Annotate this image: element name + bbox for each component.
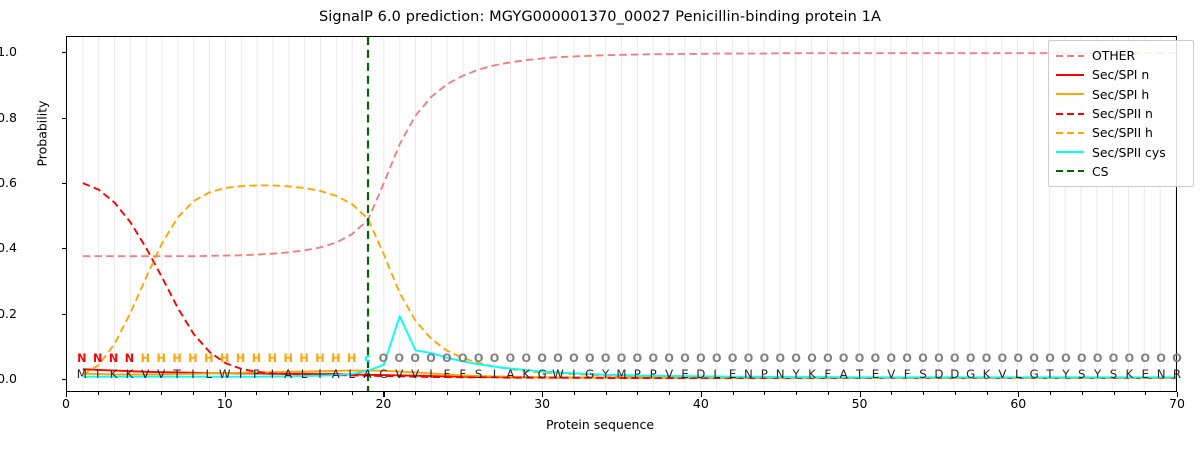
x-minor-tick: [733, 392, 734, 395]
x-tick-mark: [66, 392, 67, 397]
x-axis-label: Protein sequence: [0, 417, 1200, 432]
legend-sec-spii-h-swatch-icon: [1055, 127, 1085, 139]
x-minor-tick: [352, 392, 353, 395]
series-other: [83, 53, 1176, 256]
x-tick-label: 10: [195, 396, 255, 411]
x-tick-label: 40: [671, 396, 731, 411]
x-minor-tick: [923, 392, 924, 395]
y-tick-mark: [62, 118, 67, 119]
x-minor-tick: [796, 392, 797, 395]
y-tick-mark: [62, 379, 67, 380]
x-minor-tick: [447, 392, 448, 395]
x-minor-tick: [98, 392, 99, 395]
x-minor-tick: [1114, 392, 1115, 395]
legend-sec-spi-n[interactable]: Sec/SPI n: [1055, 65, 1187, 84]
legend-sec-spi-h-swatch-icon: [1055, 88, 1085, 100]
legend-sec-spii-cys-label: Sec/SPII cys: [1092, 145, 1166, 160]
legend-sec-spii-n[interactable]: Sec/SPII n: [1055, 104, 1187, 123]
x-tick-label: 50: [830, 396, 890, 411]
signalp-figure: SignalP 6.0 prediction: MGYG000001370_00…: [0, 0, 1200, 450]
legend-cs[interactable]: CS: [1055, 162, 1187, 181]
legend-sec-spii-cys-swatch-icon: [1055, 146, 1085, 158]
x-tick-mark: [225, 392, 226, 397]
legend-sec-spi-h[interactable]: Sec/SPI h: [1055, 85, 1187, 104]
y-tick-mark: [62, 52, 67, 53]
x-minor-tick: [510, 392, 511, 395]
y-tick-label: 0.6: [0, 175, 17, 190]
y-tick-label: 0.8: [0, 110, 17, 125]
x-minor-tick: [1082, 392, 1083, 395]
x-tick-label: 0: [36, 396, 96, 411]
y-tick-mark: [62, 314, 67, 315]
legend-sec-spii-cys[interactable]: Sec/SPII cys: [1055, 142, 1187, 161]
x-tick-label: 60: [988, 396, 1048, 411]
x-minor-tick: [161, 392, 162, 395]
x-minor-tick: [669, 392, 670, 395]
legend-other-swatch-icon: [1055, 50, 1085, 62]
legend-sec-spii-n-swatch-icon: [1055, 108, 1085, 120]
x-minor-tick: [320, 392, 321, 395]
legend-sec-spi-n-swatch-icon: [1055, 69, 1085, 81]
x-minor-tick: [637, 392, 638, 395]
legend-sec-spii-h-label: Sec/SPII h: [1092, 125, 1153, 140]
x-minor-tick: [828, 392, 829, 395]
y-tick-label: 0.0: [0, 371, 17, 386]
x-tick-mark: [383, 392, 384, 397]
y-tick-mark: [62, 248, 67, 249]
page-title: SignalP 6.0 prediction: MGYG000001370_00…: [0, 9, 1200, 25]
y-tick-label: 0.2: [0, 306, 17, 321]
legend-other-label: OTHER: [1092, 48, 1135, 63]
x-minor-tick: [987, 392, 988, 395]
x-tick-label: 20: [353, 396, 413, 411]
legend-cs-swatch-icon: [1055, 165, 1085, 177]
x-tick-mark: [701, 392, 702, 397]
x-minor-tick: [764, 392, 765, 395]
x-tick-mark: [860, 392, 861, 397]
legend-sec-spii-n-label: Sec/SPII n: [1092, 106, 1153, 121]
x-tick-label: 30: [512, 396, 572, 411]
legend-sec-spii-h[interactable]: Sec/SPII h: [1055, 123, 1187, 142]
legend[interactable]: OTHERSec/SPI nSec/SPI hSec/SPII nSec/SPI…: [1048, 40, 1194, 187]
sequence-residue: R: [1164, 367, 1190, 381]
x-minor-tick: [574, 392, 575, 395]
legend-sec-spi-n-label: Sec/SPI n: [1092, 67, 1149, 82]
x-minor-tick: [415, 392, 416, 395]
x-minor-tick: [1145, 392, 1146, 395]
series-sec-spii-h: [83, 185, 1176, 378]
x-tick-mark: [1177, 392, 1178, 397]
x-tick-mark: [542, 392, 543, 397]
x-minor-tick: [606, 392, 607, 395]
legend-other[interactable]: OTHER: [1055, 46, 1187, 65]
y-tick-mark: [62, 183, 67, 184]
x-minor-tick: [256, 392, 257, 395]
x-minor-tick: [129, 392, 130, 395]
x-minor-tick: [288, 392, 289, 395]
x-tick-mark: [1018, 392, 1019, 397]
y-axis-label: Probability: [35, 54, 50, 214]
sequence-region-label: O: [1164, 352, 1190, 365]
legend-sec-spi-h-label: Sec/SPI h: [1092, 87, 1149, 102]
x-minor-tick: [955, 392, 956, 395]
x-minor-tick: [193, 392, 194, 395]
y-tick-label: 0.4: [0, 240, 17, 255]
y-tick-label: 1.0: [0, 44, 17, 59]
plot-area: [66, 36, 1177, 392]
x-minor-tick: [479, 392, 480, 395]
legend-cs-label: CS: [1092, 164, 1109, 179]
x-tick-label: 70: [1147, 396, 1200, 411]
data-layer: [67, 37, 1176, 391]
x-minor-tick: [891, 392, 892, 395]
series-sec-spii-n: [83, 183, 1176, 378]
x-minor-tick: [1050, 392, 1051, 395]
